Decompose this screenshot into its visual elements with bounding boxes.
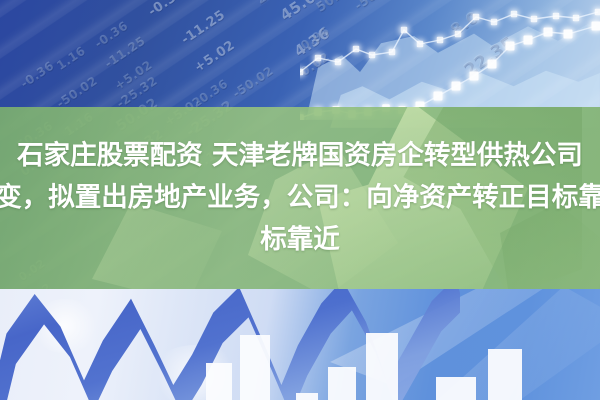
data-point-node: [473, 14, 480, 21]
data-point-node: [595, 9, 600, 16]
headline-line-3: 标靠近: [260, 219, 340, 261]
data-point-node: [511, 11, 518, 18]
data-point-node: [573, 15, 580, 22]
data-point-node: [437, 37, 444, 44]
line-chart: [300, 0, 600, 120]
data-point-node: [470, 72, 479, 81]
data-point-node: [491, 19, 498, 26]
bar: [436, 377, 476, 400]
data-point-node: [389, 49, 396, 56]
chart-line: [300, 26, 596, 118]
data-point-node: [315, 55, 322, 62]
data-point-node: [452, 82, 461, 91]
data-point-node: [531, 16, 538, 23]
data-point-node: [369, 52, 376, 59]
headline-line-2: 变，拟置出房地产业务，公司：向净资产转正目标靠: [0, 177, 600, 219]
data-point-node: [434, 92, 443, 101]
bar: [240, 335, 270, 400]
chart-line: [300, 12, 598, 72]
bar: [366, 333, 398, 400]
bar-chart: [200, 289, 600, 400]
data-point-node: [524, 36, 533, 45]
bar: [328, 367, 356, 400]
headline-line-1: 石家庄股票配资 天津老牌国资房企转型供热公司: [17, 135, 583, 177]
bar: [488, 349, 522, 400]
data-point-node: [401, 27, 408, 34]
data-point-node: [544, 28, 553, 37]
data-point-node: [564, 30, 573, 39]
data-point-node: [455, 31, 462, 38]
lower-graphic-area: [0, 289, 600, 400]
bar: [296, 393, 318, 400]
data-point-node: [353, 46, 360, 53]
data-point-node: [506, 42, 515, 51]
data-point-node: [417, 41, 424, 48]
bar: [206, 363, 232, 400]
stock-news-banner: -0.36-11.25+5.0245.0250.024.3621.36-0.36…: [0, 0, 600, 400]
data-point-node: [300, 69, 303, 76]
data-point-node: [592, 22, 600, 31]
headline-block: 石家庄股票配资 天津老牌国资房企转型供热公司 变，拟置出房地产业务，公司：向净资…: [0, 107, 600, 289]
data-point-node: [488, 60, 497, 69]
data-point-node: [553, 13, 560, 20]
data-point-node: [335, 59, 342, 66]
